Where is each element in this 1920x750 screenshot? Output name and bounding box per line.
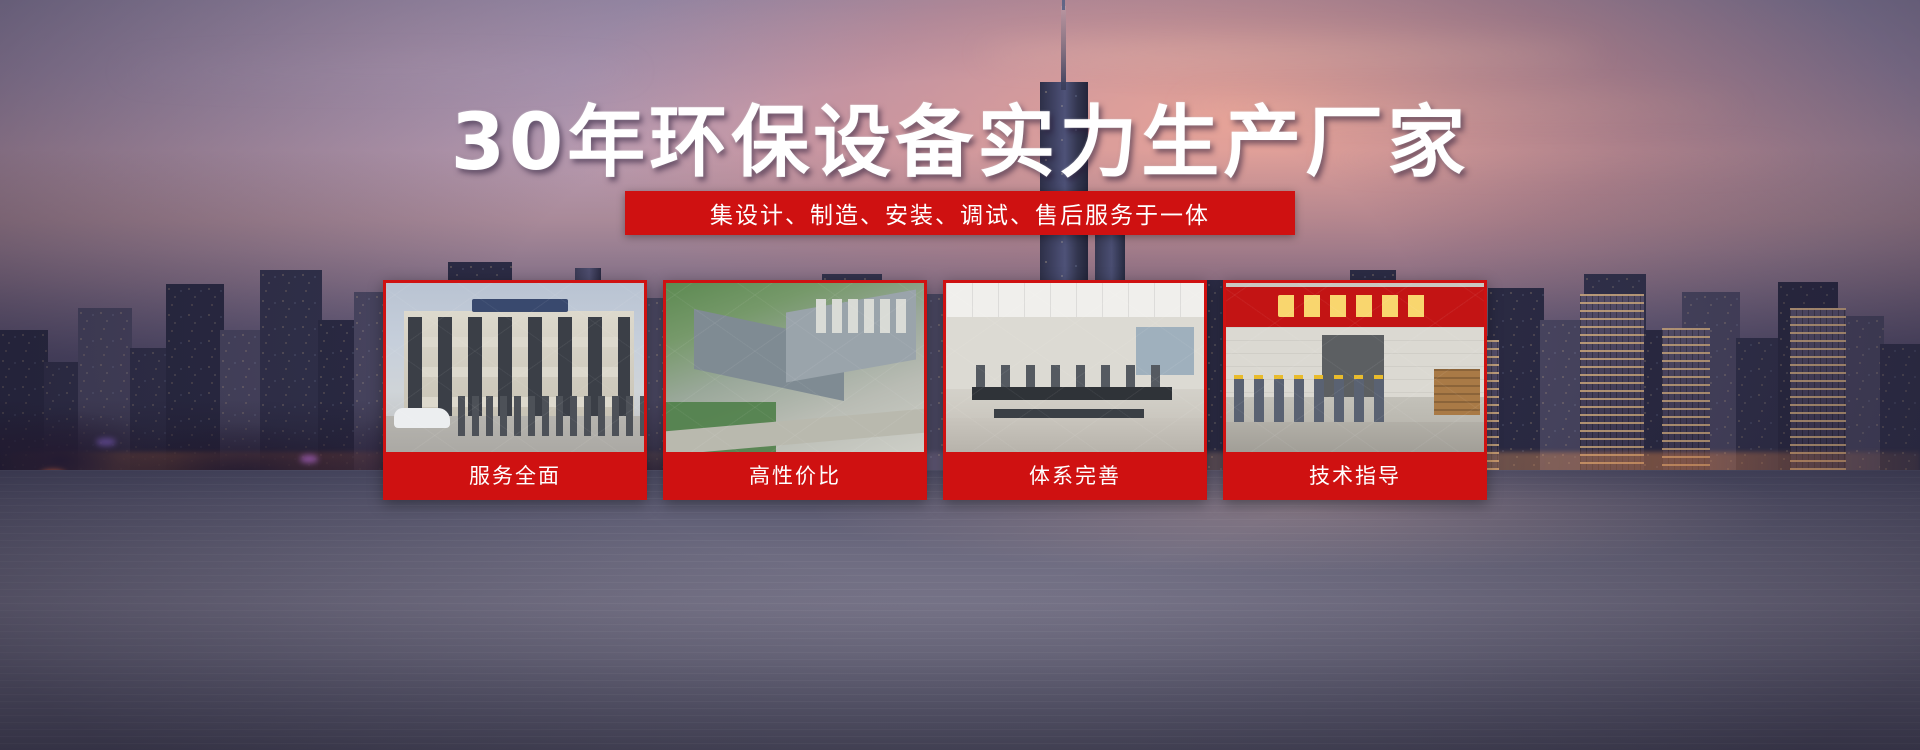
card-photo <box>1226 283 1484 458</box>
card-photo <box>386 283 644 458</box>
page-title: 30年环保设备实力生产厂家 <box>0 103 1920 185</box>
watermark-overlay <box>666 283 924 458</box>
card-caption-bar: 体系完善 <box>946 452 1204 497</box>
feature-card[interactable]: 服务全面 <box>383 280 647 500</box>
feature-card-list: 服务全面 高性价比 <box>383 280 1538 500</box>
feature-card[interactable]: 体系完善 <box>943 280 1207 500</box>
card-caption-bar: 技术指导 <box>1226 452 1484 497</box>
subtitle-text: 集设计、制造、安装、调试、售后服务于一体 <box>710 196 1210 230</box>
feature-card[interactable]: 高性价比 <box>663 280 927 500</box>
card-caption-label: 体系完善 <box>1029 460 1121 490</box>
card-caption-bar: 高性价比 <box>666 452 924 497</box>
card-caption-label: 技术指导 <box>1309 460 1401 490</box>
card-caption-label: 高性价比 <box>749 460 841 490</box>
watermark-overlay <box>946 283 1204 458</box>
card-caption-bar: 服务全面 <box>386 452 644 497</box>
banner-content: 30年环保设备实力生产厂家 集设计、制造、安装、调试、售后服务于一体 服务全面 <box>0 0 1920 750</box>
watermark-overlay <box>1226 283 1484 458</box>
watermark-overlay <box>386 283 644 458</box>
subtitle-banner: 集设计、制造、安装、调试、售后服务于一体 <box>625 191 1295 235</box>
card-photo <box>666 283 924 458</box>
hero-banner: 30年环保设备实力生产厂家 集设计、制造、安装、调试、售后服务于一体 服务全面 <box>0 0 1920 750</box>
card-photo <box>946 283 1204 458</box>
card-caption-label: 服务全面 <box>469 460 561 490</box>
feature-card[interactable]: 技术指导 <box>1223 280 1487 500</box>
